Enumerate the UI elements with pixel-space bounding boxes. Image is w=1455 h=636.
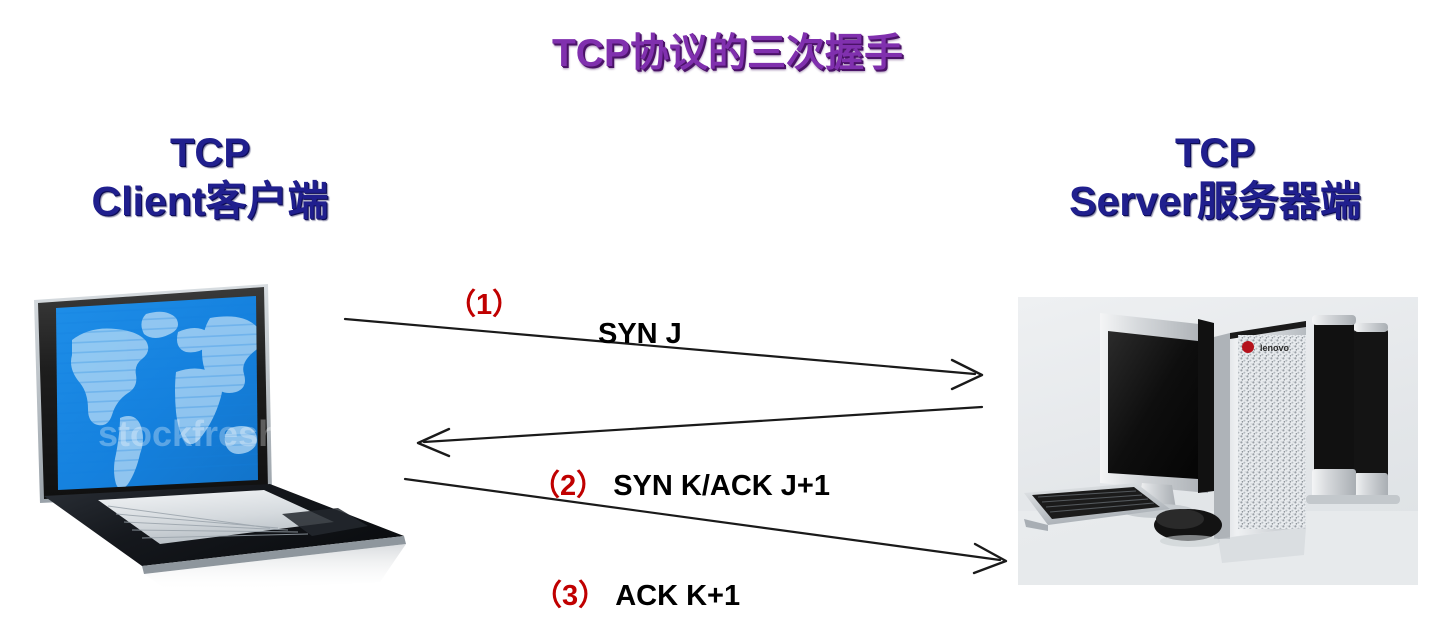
screen-watermark: stockfresh [98,413,280,454]
server-label-line2: Server服务器端 [1000,177,1430,225]
message-1-step: （1） [447,281,521,323]
mouse [1154,509,1222,547]
main-tower: lenovo [1214,321,1306,563]
server-endpoint-label: TCP Server服务器端 [1000,130,1430,226]
message-3-step-number: （3） [533,580,607,612]
brand-logo-icon [1242,341,1254,353]
message-1-text: SYN J [598,318,682,351]
tower-base-plate [1306,495,1400,504]
laptop-icon: stockfresh [20,278,420,588]
rear-tower-left [1312,315,1356,497]
message-1-step-number: （1） [447,289,521,321]
message-2-text-value: SYN K/ACK J+1 [613,470,830,502]
monitor-screen [1108,331,1198,479]
client-label-line2: Client客户端 [20,177,400,225]
rear-tower-right [1354,323,1388,499]
brand-name-text: lenovo [1260,343,1290,353]
message-1-text-value: SYN J [598,318,682,350]
arrow-syn-k-ack-j1 [418,407,982,456]
client-label-line1: TCP [20,130,400,177]
server-label-line1: TCP [1000,130,1430,177]
message-3: （3） ACK K+1 [533,572,740,614]
client-endpoint-label: TCP Client客户端 [20,130,400,226]
tcp-handshake-diagram: TCP协议的三次握手 TCP Client客户端 TCP Server服务器端 [0,0,1455,636]
desktop-server-icon: lenovo [1018,297,1418,585]
page-title: TCP协议的三次握手 [0,22,1455,78]
message-2: （2） SYN K/ACK J+1 [531,462,830,504]
message-2-step-number: （2） [531,470,605,502]
message-3-text-value: ACK K+1 [615,580,740,612]
